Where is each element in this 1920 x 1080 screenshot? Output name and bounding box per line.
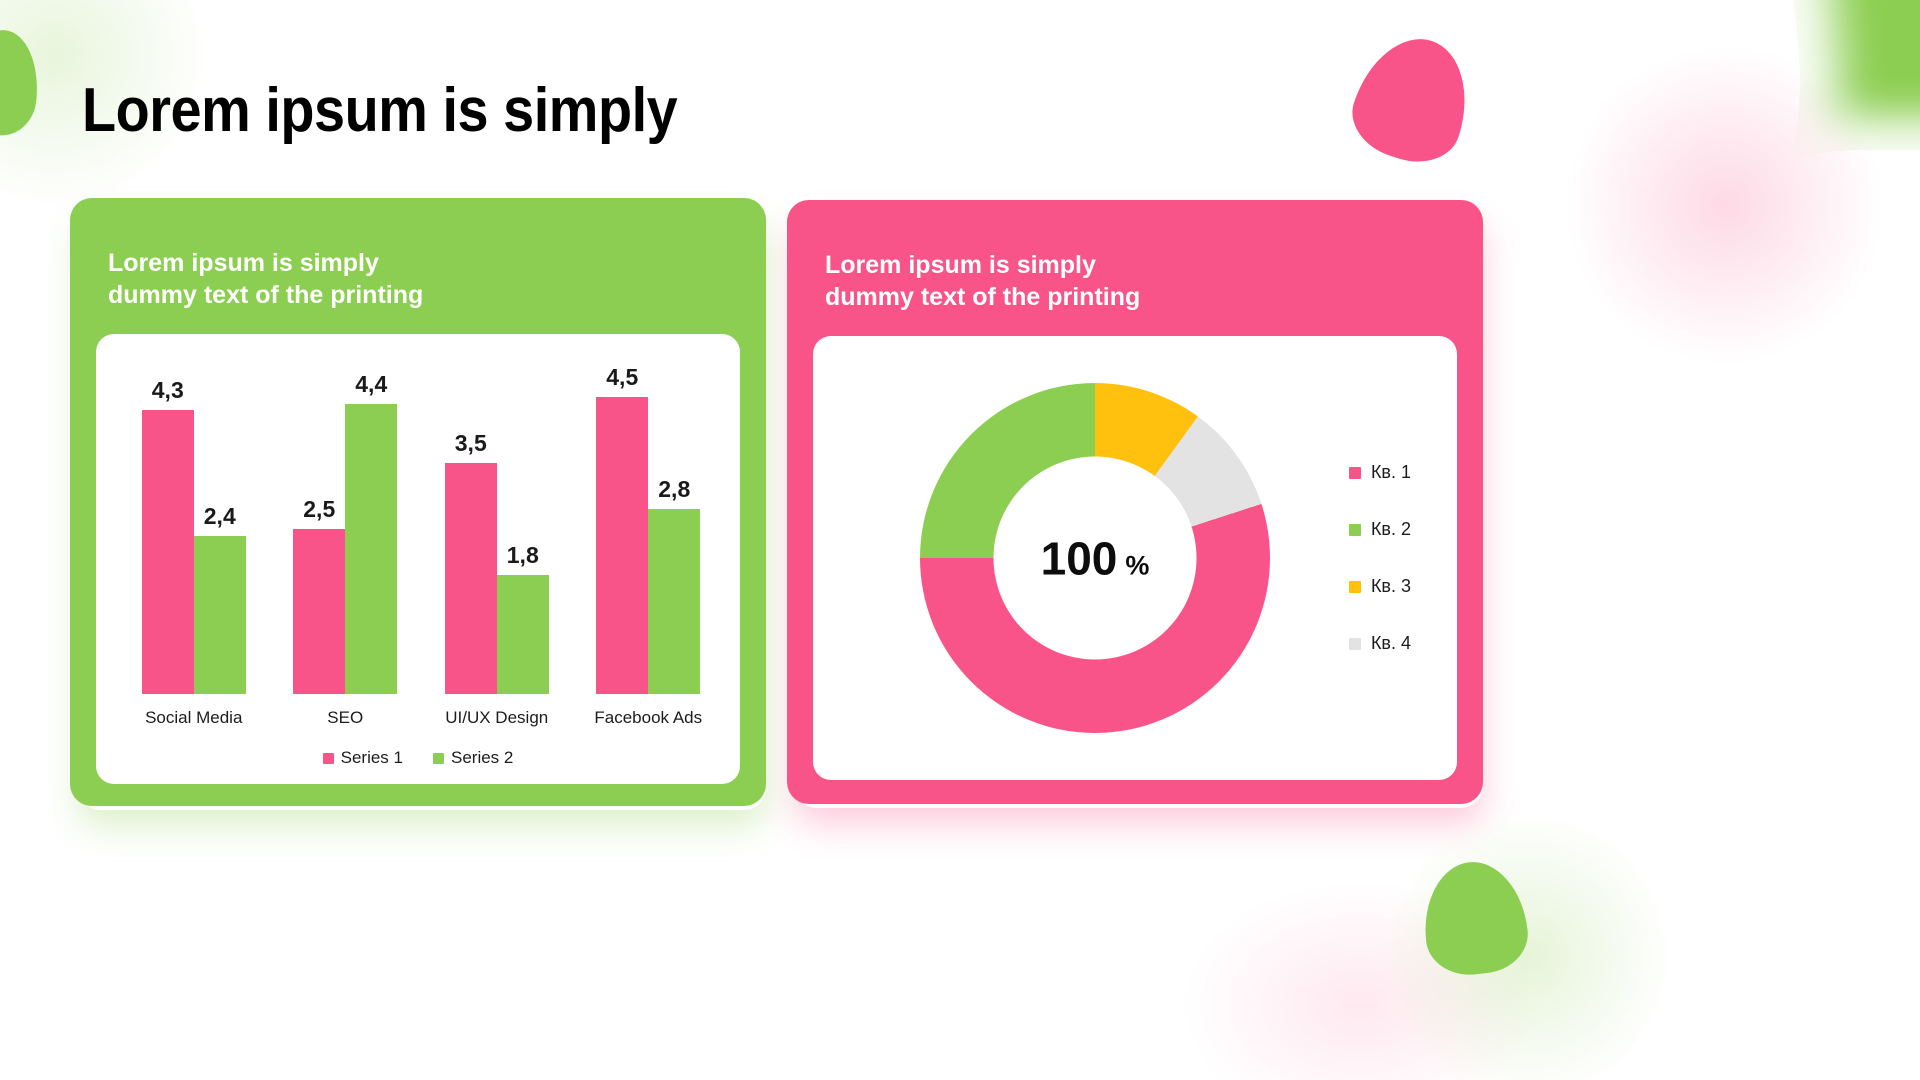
legend-item[interactable]: Series 1	[323, 748, 403, 768]
pink-glow-top-right	[1560, 40, 1890, 370]
legend-label: Series 1	[341, 748, 403, 768]
bar-chart-legend: Series 1Series 2	[96, 748, 740, 768]
pink-petal-icon	[1342, 24, 1484, 174]
legend-swatch-icon	[323, 753, 334, 764]
donut-legend-swatch-icon	[1349, 524, 1361, 536]
bar-column: 1,8	[497, 364, 549, 694]
category-label: Social Media	[118, 708, 270, 728]
bar-value-label: 2,4	[204, 503, 236, 530]
donut-chart-card: Lorem ipsum is simply dummy text of the …	[787, 200, 1483, 804]
bar-group: 4,32,4	[118, 364, 270, 694]
donut-chart-legend: Кв. 1Кв. 2Кв. 3Кв. 4	[1349, 462, 1411, 654]
bar-value-label: 1,8	[507, 542, 539, 569]
bar-column: 2,8	[648, 364, 700, 694]
bar-value-label: 4,5	[606, 364, 638, 391]
donut-legend-item[interactable]: Кв. 2	[1349, 519, 1411, 540]
bar-value-label: 2,8	[658, 476, 690, 503]
bar[interactable]: 3,5	[445, 463, 497, 694]
donut-chart: 100 %	[920, 383, 1270, 733]
donut-legend-label: Кв. 2	[1371, 519, 1411, 540]
bar-group: 2,54,4	[270, 364, 422, 694]
bar[interactable]: 4,5	[596, 397, 648, 694]
bar[interactable]: 2,8	[648, 509, 700, 694]
donut-center-unit: %	[1125, 550, 1149, 581]
legend-swatch-icon	[433, 753, 444, 764]
donut-legend-swatch-icon	[1349, 638, 1361, 650]
bar[interactable]: 4,4	[345, 404, 397, 694]
donut-center-value: 100	[1041, 531, 1118, 585]
donut-legend-label: Кв. 4	[1371, 633, 1411, 654]
donut-legend-item[interactable]: Кв. 4	[1349, 633, 1411, 654]
donut-center-value-group: 100 %	[1041, 531, 1150, 585]
donut-chart-plot-area: 100 % Кв. 1Кв. 2Кв. 3Кв. 4	[813, 336, 1457, 780]
green-petal-top-left-icon	[0, 26, 43, 138]
donut-legend-label: Кв. 1	[1371, 462, 1411, 483]
bar-column: 2,4	[194, 364, 246, 694]
donut-legend-swatch-icon	[1349, 467, 1361, 479]
bar-group: 3,51,8	[421, 364, 573, 694]
bar[interactable]: 2,4	[194, 536, 246, 694]
category-label: UI/UX Design	[421, 708, 573, 728]
category-label: SEO	[270, 708, 422, 728]
bar-group: 4,52,8	[573, 364, 725, 694]
legend-label: Series 2	[451, 748, 513, 768]
white-wave-shape-two	[1560, 150, 1920, 710]
bar-column: 4,3	[142, 364, 194, 694]
bar-value-label: 2,5	[303, 496, 335, 523]
bar[interactable]: 2,5	[293, 529, 345, 694]
bar-chart-plot-area: 4,32,42,54,43,51,84,52,8	[118, 364, 724, 694]
donut-legend-swatch-icon	[1349, 581, 1361, 593]
donut-legend-label: Кв. 3	[1371, 576, 1411, 597]
left-card-heading: Lorem ipsum is simply dummy text of the …	[108, 248, 423, 311]
bar-column: 4,4	[345, 364, 397, 694]
page-title: Lorem ipsum is simply	[82, 75, 677, 146]
donut-legend-item[interactable]: Кв. 1	[1349, 462, 1411, 483]
bar[interactable]: 4,3	[142, 410, 194, 694]
legend-item[interactable]: Series 2	[433, 748, 513, 768]
green-petal-bottom-right-icon	[1418, 857, 1531, 979]
bar-value-label: 4,3	[152, 377, 184, 404]
right-card-heading: Lorem ipsum is simply dummy text of the …	[825, 250, 1140, 313]
donut-center-hole: 100 %	[994, 457, 1197, 660]
donut-chart-panel: 100 % Кв. 1Кв. 2Кв. 3Кв. 4	[813, 336, 1457, 780]
bar-column: 4,5	[596, 364, 648, 694]
bar[interactable]: 1,8	[497, 575, 549, 694]
bar-column: 2,5	[293, 364, 345, 694]
bar-chart-panel: 4,32,42,54,43,51,84,52,8 Social MediaSEO…	[96, 334, 740, 784]
bar-chart-category-axis: Social MediaSEOUI/UX DesignFacebook Ads	[118, 708, 724, 728]
bar-value-label: 4,4	[355, 371, 387, 398]
donut-legend-item[interactable]: Кв. 3	[1349, 576, 1411, 597]
bar-value-label: 3,5	[455, 430, 487, 457]
category-label: Facebook Ads	[573, 708, 725, 728]
bar-chart-card: Lorem ipsum is simply dummy text of the …	[70, 198, 766, 806]
green-glow-bottom-right	[1368, 806, 1688, 1080]
bar-column: 3,5	[445, 364, 497, 694]
